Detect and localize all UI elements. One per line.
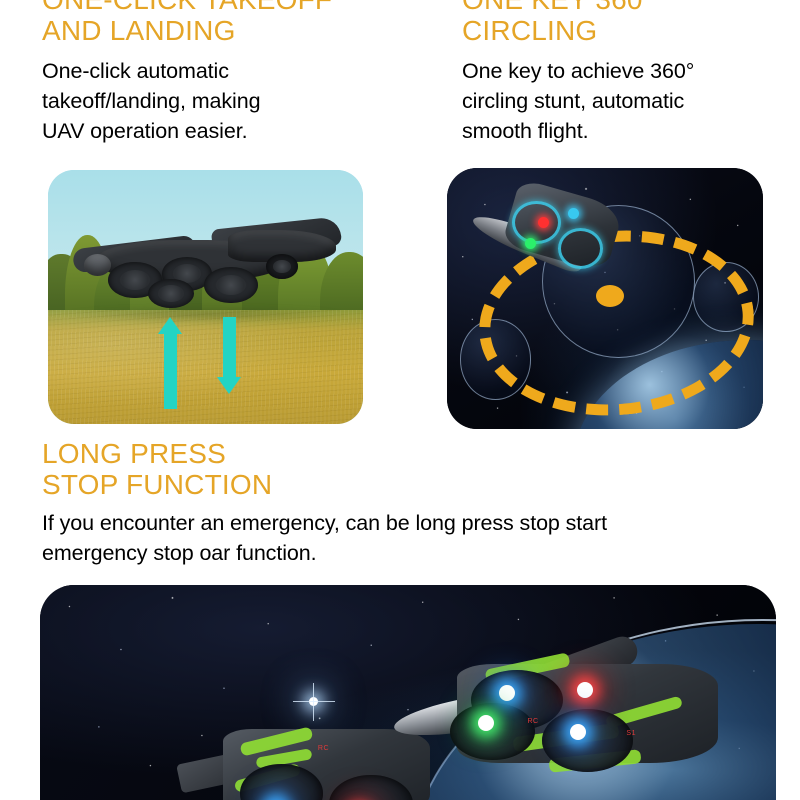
camo-drone-rear: RC S1 [393, 637, 746, 788]
feature-block-long-press-stop: LONG PRESS STOP FUNCTION If you encounte… [42, 438, 772, 568]
product-feature-page: ONE-CLICK TAKEOFF AND LANDING One-click … [0, 0, 800, 800]
quadcopter-drone [73, 208, 341, 330]
feature-block-circling: ONE KEY 360 CIRCLING One key to achieve … [462, 0, 792, 146]
feature-block-takeoff: ONE-CLICK TAKEOFF AND LANDING One-click … [42, 0, 372, 146]
emergency-stop-photo: RC RC S1 [40, 585, 776, 800]
feature-heading-takeoff: ONE-CLICK TAKEOFF AND LANDING [42, 0, 372, 46]
arrow-up-icon [158, 317, 183, 408]
drone-takeoff-landing-photo [48, 170, 363, 424]
arrow-down-icon [217, 317, 242, 393]
feature-body-circling: One key to achieve 360° circling stunt, … [462, 46, 792, 146]
jet-drone [466, 184, 630, 294]
feature-heading-circling: ONE KEY 360 CIRCLING [462, 0, 792, 46]
feature-body-takeoff: One-click automatic takeoff/landing, mak… [42, 46, 372, 146]
feature-body-long-press-stop: If you encounter an emergency, can be lo… [42, 500, 772, 568]
feature-heading-long-press-stop: LONG PRESS STOP FUNCTION [42, 438, 772, 500]
drone-360-circling-photo [447, 168, 763, 429]
